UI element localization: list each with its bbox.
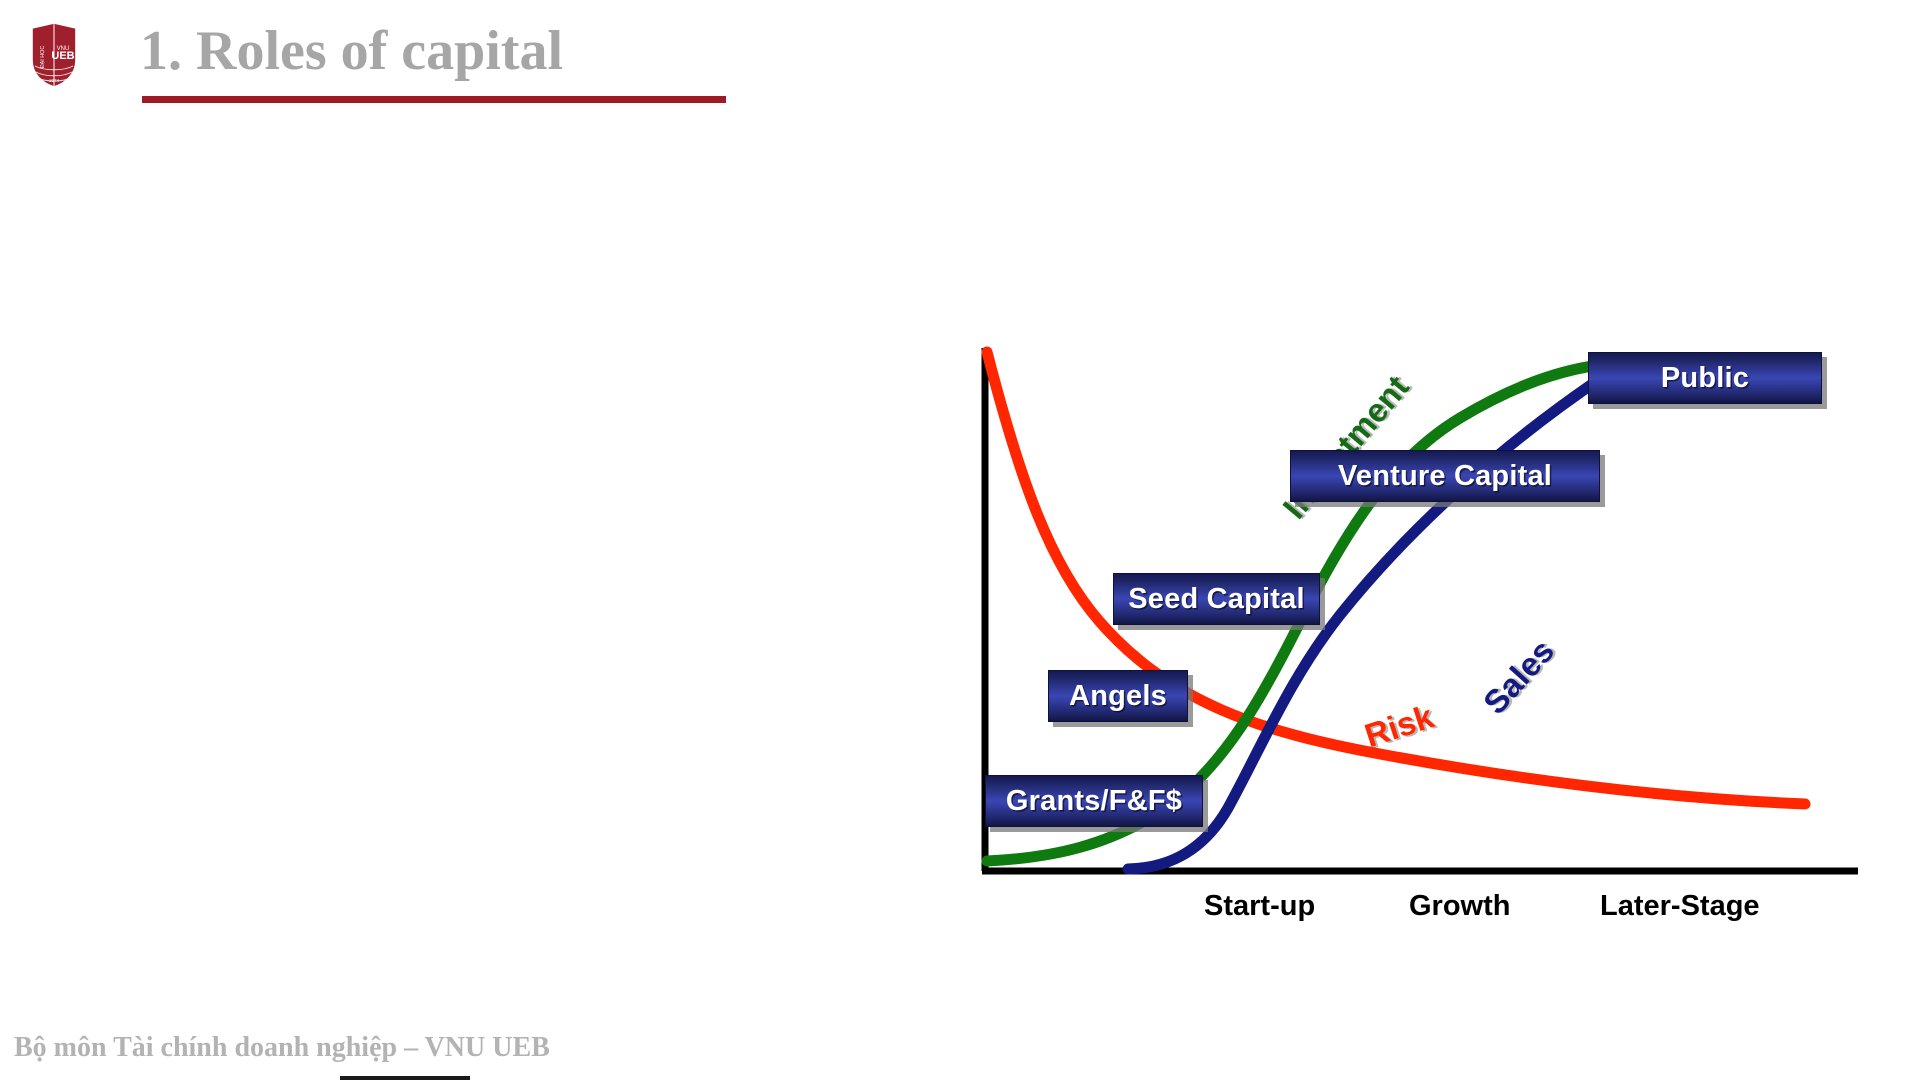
slide-footer-text: Bộ môn Tài chính doanh nghiệp – VNU UEB bbox=[14, 1032, 550, 1064]
slide-header: VNU UEB ĐẠI HỌC 1974 1. Roles of capital bbox=[0, 0, 1921, 130]
page-title: 1. Roles of capital bbox=[140, 22, 563, 81]
capital-box-angels[interactable]: Angels bbox=[1048, 670, 1188, 722]
capital-lifecycle-chart bbox=[960, 330, 1880, 930]
ueb-shield-logo: VNU UEB ĐẠI HỌC 1974 bbox=[30, 22, 78, 88]
title-underline-accent bbox=[142, 96, 726, 103]
capital-box-seed-capital[interactable]: Seed Capital bbox=[1113, 573, 1320, 625]
footer-divider-line bbox=[340, 1076, 470, 1080]
capital-box-public[interactable]: Public bbox=[1588, 352, 1822, 404]
capital-box-grants-ffs[interactable]: Grants/F&F$ bbox=[985, 775, 1203, 827]
svg-text:UEB: UEB bbox=[51, 50, 74, 62]
capital-box-venture-capital[interactable]: Venture Capital bbox=[1290, 450, 1600, 502]
capital-box-label: Grants/F&F$ bbox=[1006, 785, 1182, 818]
svg-text:1974: 1974 bbox=[49, 78, 60, 83]
capital-box-label: Public bbox=[1661, 362, 1749, 395]
capital-box-label: Venture Capital bbox=[1338, 460, 1552, 493]
capital-box-label: Seed Capital bbox=[1128, 583, 1304, 616]
x-axis-label-start-up: Start-up bbox=[1204, 890, 1315, 923]
svg-text:ĐẠI HỌC: ĐẠI HỌC bbox=[40, 46, 46, 69]
x-axis-label-later-stage: Later-Stage bbox=[1600, 890, 1760, 923]
capital-box-label: Angels bbox=[1069, 680, 1167, 713]
x-axis-label-growth: Growth bbox=[1409, 890, 1511, 923]
chart-canvas bbox=[960, 330, 1880, 930]
